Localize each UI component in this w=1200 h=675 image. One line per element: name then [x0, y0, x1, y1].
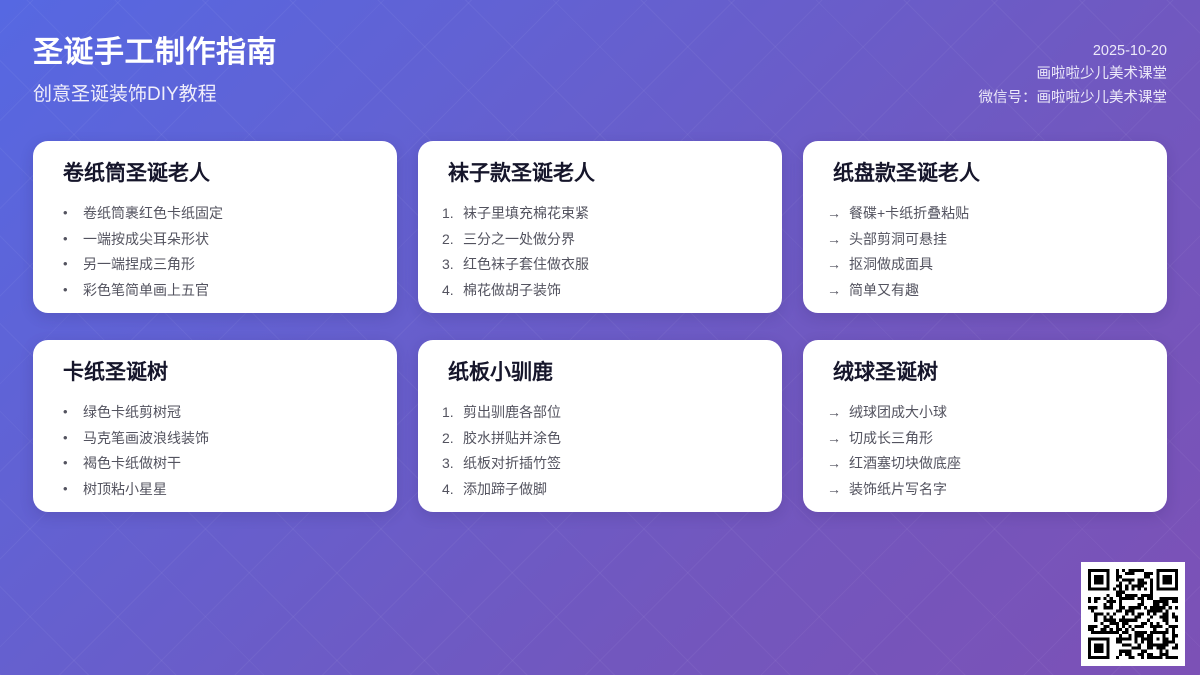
- list-item: 1.袜子里填充棉花束紧: [442, 200, 758, 226]
- list-item: •褐色卡纸做树干: [57, 451, 373, 477]
- craft-card: 卡纸圣诞树•绿色卡纸剪树冠•马克笔画波浪线装饰•褐色卡纸做树干•树顶粘小星星: [33, 340, 397, 512]
- list-item-text: 一端按成尖耳朵形状: [83, 230, 373, 249]
- list-marker-bullet-icon: •: [63, 454, 83, 472]
- list-item: 1.剪出驯鹿各部位: [442, 399, 758, 425]
- list-marker-number-icon: 3.: [442, 454, 463, 473]
- list-item-text: 红酒塞切块做底座: [849, 454, 1143, 473]
- list-item-text: 剪出驯鹿各部位: [463, 403, 758, 422]
- craft-card: 绒球圣诞树→绒球团成大小球→切成长三角形→红酒塞切块做底座→装饰纸片写名字: [803, 340, 1167, 512]
- list-marker-number-icon: 2.: [442, 230, 463, 249]
- list-item-text: 纸板对折插竹签: [463, 454, 758, 473]
- list-marker-arrow-icon: →: [827, 429, 849, 448]
- infographic-page: 圣诞手工制作指南 创意圣诞装饰DIY教程 2025-10-20 画啦啦少儿美术课…: [0, 0, 1200, 675]
- list-item: 4.棉花做胡子装饰: [442, 278, 758, 304]
- craft-card: 袜子款圣诞老人1.袜子里填充棉花束紧2.三分之一处做分界3.红色袜子套住做衣服4…: [418, 141, 782, 313]
- list-item: →餐碟+卡纸折叠粘贴: [827, 200, 1143, 226]
- publish-date: 2025-10-20: [979, 40, 1168, 63]
- list-marker-arrow-icon: →: [827, 480, 849, 499]
- list-marker-bullet-icon: •: [63, 403, 83, 421]
- card-step-list: •卷纸筒裹红色卡纸固定•一端按成尖耳朵形状•另一端捏成三角形•彩色笔简单画上五官: [57, 200, 373, 304]
- list-item: •彩色笔简单画上五官: [57, 278, 373, 304]
- list-item: 3.红色袜子套住做衣服: [442, 252, 758, 278]
- source-name: 画啦啦少儿美术课堂: [979, 63, 1168, 86]
- list-item: →装饰纸片写名字: [827, 477, 1143, 503]
- list-item-text: 添加蹄子做脚: [463, 480, 758, 499]
- list-item: •马克笔画波浪线装饰: [57, 425, 373, 451]
- list-item-text: 抠洞做成面具: [849, 255, 1143, 274]
- list-item-text: 绒球团成大小球: [849, 403, 1143, 422]
- list-item-text: 简单又有趣: [849, 281, 1143, 300]
- wechat-id: 微信号：画啦啦少儿美术课堂: [979, 87, 1168, 110]
- craft-card: 纸板小驯鹿1.剪出驯鹿各部位2.胶水拼贴并涂色3.纸板对折插竹签4.添加蹄子做脚: [418, 340, 782, 512]
- list-marker-arrow-icon: →: [827, 403, 849, 422]
- card-title: 袜子款圣诞老人: [442, 161, 758, 186]
- list-marker-number-icon: 1.: [442, 403, 463, 422]
- list-item: 2.三分之一处做分界: [442, 226, 758, 252]
- list-marker-bullet-icon: •: [63, 255, 83, 273]
- list-marker-bullet-icon: •: [63, 281, 83, 299]
- list-item: →绒球团成大小球: [827, 399, 1143, 425]
- list-marker-number-icon: 3.: [442, 255, 463, 274]
- list-marker-arrow-icon: →: [827, 454, 849, 473]
- list-item-text: 红色袜子套住做衣服: [463, 255, 758, 274]
- list-marker-bullet-icon: •: [63, 230, 83, 248]
- list-item: →切成长三角形: [827, 425, 1143, 451]
- list-item: 3.纸板对折插竹签: [442, 451, 758, 477]
- list-marker-number-icon: 2.: [442, 429, 463, 448]
- page-header: 圣诞手工制作指南 创意圣诞装饰DIY教程 2025-10-20 画啦啦少儿美术课…: [0, 0, 1200, 130]
- craft-card: 纸盘款圣诞老人→餐碟+卡纸折叠粘贴→头部剪洞可悬挂→抠洞做成面具→简单又有趣: [803, 141, 1167, 313]
- list-marker-number-icon: 4.: [442, 480, 463, 499]
- list-item: →红酒塞切块做底座: [827, 451, 1143, 477]
- list-item-text: 褐色卡纸做树干: [83, 454, 373, 473]
- card-step-list: 1.袜子里填充棉花束紧2.三分之一处做分界3.红色袜子套住做衣服4.棉花做胡子装…: [442, 200, 758, 304]
- qr-code-icon[interactable]: [1081, 562, 1185, 666]
- card-step-list: →餐碟+卡纸折叠粘贴→头部剪洞可悬挂→抠洞做成面具→简单又有趣: [827, 200, 1143, 304]
- card-step-list: 1.剪出驯鹿各部位2.胶水拼贴并涂色3.纸板对折插竹签4.添加蹄子做脚: [442, 399, 758, 503]
- list-marker-arrow-icon: →: [827, 255, 849, 274]
- list-item-text: 餐碟+卡纸折叠粘贴: [849, 204, 1143, 223]
- list-item: •另一端捏成三角形: [57, 252, 373, 278]
- card-title: 卷纸筒圣诞老人: [57, 161, 373, 186]
- list-item: →简单又有趣: [827, 278, 1143, 304]
- list-marker-number-icon: 4.: [442, 281, 463, 300]
- page-subtitle: 创意圣诞装饰DIY教程: [33, 84, 277, 107]
- list-item-text: 另一端捏成三角形: [83, 255, 373, 274]
- card-title: 卡纸圣诞树: [57, 360, 373, 385]
- list-item-text: 树顶粘小星星: [83, 480, 373, 499]
- list-item: 4.添加蹄子做脚: [442, 477, 758, 503]
- page-title: 圣诞手工制作指南: [33, 36, 277, 71]
- list-item: •绿色卡纸剪树冠: [57, 399, 373, 425]
- list-item: →头部剪洞可悬挂: [827, 226, 1143, 252]
- card-title: 纸盘款圣诞老人: [827, 161, 1143, 186]
- list-item: •卷纸筒裹红色卡纸固定: [57, 200, 373, 226]
- list-item-text: 卷纸筒裹红色卡纸固定: [83, 204, 373, 223]
- list-item: •树顶粘小星星: [57, 477, 373, 503]
- header-title-block: 圣诞手工制作指南 创意圣诞装饰DIY教程: [33, 30, 277, 106]
- card-title: 纸板小驯鹿: [442, 360, 758, 385]
- list-item-text: 头部剪洞可悬挂: [849, 230, 1143, 249]
- list-item-text: 胶水拼贴并涂色: [463, 429, 758, 448]
- list-marker-arrow-icon: →: [827, 230, 849, 249]
- list-item-text: 马克笔画波浪线装饰: [83, 429, 373, 448]
- list-marker-arrow-icon: →: [827, 204, 849, 223]
- list-item-text: 绿色卡纸剪树冠: [83, 403, 373, 422]
- header-meta-block: 2025-10-20 画啦啦少儿美术课堂 微信号：画啦啦少儿美术课堂: [979, 30, 1168, 110]
- cards-grid: 卷纸筒圣诞老人•卷纸筒裹红色卡纸固定•一端按成尖耳朵形状•另一端捏成三角形•彩色…: [33, 141, 1167, 512]
- list-item-text: 彩色笔简单画上五官: [83, 281, 373, 300]
- list-marker-bullet-icon: •: [63, 429, 83, 447]
- card-step-list: •绿色卡纸剪树冠•马克笔画波浪线装饰•褐色卡纸做树干•树顶粘小星星: [57, 399, 373, 503]
- list-marker-bullet-icon: •: [63, 480, 83, 498]
- list-item-text: 袜子里填充棉花束紧: [463, 204, 758, 223]
- list-item: •一端按成尖耳朵形状: [57, 226, 373, 252]
- list-marker-arrow-icon: →: [827, 281, 849, 300]
- card-step-list: →绒球团成大小球→切成长三角形→红酒塞切块做底座→装饰纸片写名字: [827, 399, 1143, 503]
- list-marker-bullet-icon: •: [63, 204, 83, 222]
- list-item-text: 切成长三角形: [849, 429, 1143, 448]
- qr-code-canvas: [1088, 569, 1178, 659]
- card-title: 绒球圣诞树: [827, 360, 1143, 385]
- list-item: →抠洞做成面具: [827, 252, 1143, 278]
- craft-card: 卷纸筒圣诞老人•卷纸筒裹红色卡纸固定•一端按成尖耳朵形状•另一端捏成三角形•彩色…: [33, 141, 397, 313]
- list-marker-number-icon: 1.: [442, 204, 463, 223]
- list-item-text: 装饰纸片写名字: [849, 480, 1143, 499]
- list-item-text: 三分之一处做分界: [463, 230, 758, 249]
- list-item: 2.胶水拼贴并涂色: [442, 425, 758, 451]
- list-item-text: 棉花做胡子装饰: [463, 281, 758, 300]
